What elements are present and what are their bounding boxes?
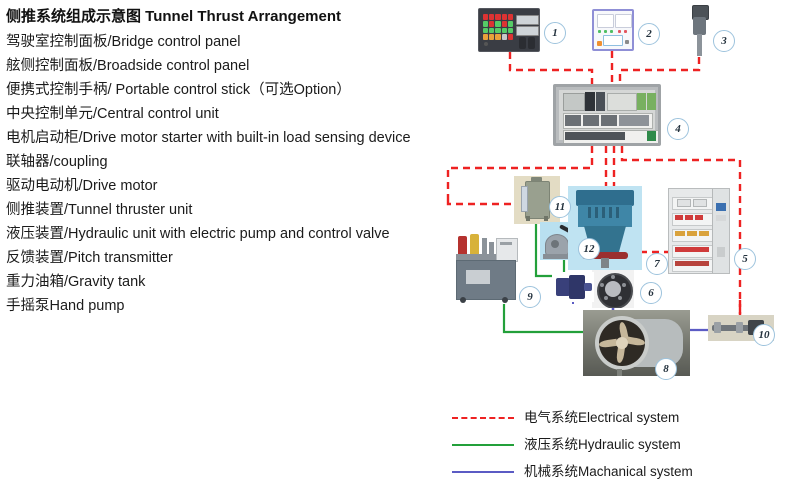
portable-control-stick [688, 5, 712, 57]
legend-row-hydraulic: 液压系统Hydraulic system [452, 431, 788, 458]
callout-11: 11 [549, 196, 571, 218]
legend-label-hydraulic: 液压系统Hydraulic system [524, 437, 681, 453]
display-window-top [516, 15, 539, 25]
breaker-2 [685, 215, 693, 220]
bridge-control-panel [478, 8, 540, 52]
caster-left [460, 297, 466, 303]
central-control-unit [553, 84, 661, 146]
motor-fin-1 [588, 207, 591, 218]
callout-9: 9 [519, 286, 541, 308]
green-module-2 [647, 93, 656, 110]
list-item: 驾驶室控制面板/Bridge control panel [6, 30, 456, 54]
list-item: 反馈装置/Pitch transmitter [6, 246, 456, 270]
rod-clamp-right [736, 322, 743, 333]
fuse-1 [675, 231, 685, 236]
motor-fin-4 [609, 207, 612, 218]
terminal-row [675, 261, 709, 266]
list-item: 联轴器/coupling [6, 150, 456, 174]
coupling-bolt-4 [604, 296, 608, 300]
contactor-row [675, 247, 709, 252]
nameplate [466, 270, 490, 284]
list-item: 中央控制单元/Central control unit [6, 102, 456, 126]
shaft-gear-unit [552, 272, 594, 302]
stick-stem [697, 34, 702, 56]
legend-swatch-electrical [452, 417, 514, 419]
cabinet-door [712, 189, 729, 273]
callout-5: 5 [734, 248, 756, 270]
meter-2 [693, 199, 707, 207]
panel-button [625, 40, 629, 44]
alarm-led [597, 41, 602, 46]
legend-swatch-mechanical [452, 471, 514, 473]
motor-fin-2 [595, 207, 598, 218]
coupling-bolt-5 [600, 283, 604, 287]
lever-knob-left [519, 37, 526, 49]
plc-module-b [585, 92, 595, 111]
rod-clamp-left [714, 322, 721, 333]
drive-motor [568, 186, 642, 270]
callout-4: 4 [667, 118, 689, 140]
motor-fin-3 [602, 207, 605, 218]
callout-8: 8 [655, 358, 677, 380]
list-item: 电机启动柜/Drive motor starter with built-in … [6, 126, 456, 150]
panel-readout [603, 35, 623, 46]
motor-terminal-box [576, 190, 634, 206]
breaker-1 [675, 215, 683, 220]
legend-label-mechanical: 机械系统Machanical system [524, 464, 693, 480]
status-led-3 [610, 30, 613, 33]
coupling-bolt-2 [622, 283, 626, 287]
system-diagram: 1 2 3 [440, 0, 788, 400]
lever-knob-right [528, 37, 535, 49]
indicator-lamp [484, 42, 488, 46]
list-item: 便携式控制手柄/ Portable control stick（可选Option… [6, 78, 456, 102]
cabinet-interior [559, 90, 655, 140]
plc-module-a [563, 93, 585, 111]
page-title: 侧推系统组成示意图 Tunnel Thrust Arrangement [6, 6, 456, 27]
status-led-4 [618, 30, 621, 33]
list-item: 舷侧控制面板/Broadside control panel [6, 54, 456, 78]
relay-2 [583, 115, 599, 126]
motor-frame [578, 205, 632, 227]
green-module-1 [637, 93, 646, 110]
button-grid [483, 14, 513, 40]
fuse-2 [687, 231, 697, 236]
relay-3 [601, 115, 617, 126]
gear-shaft [584, 283, 592, 291]
system-legend: 电气系统Electrical system 液压系统Hydraulic syst… [452, 404, 788, 485]
callout-10: 10 [753, 324, 775, 346]
callout-7: 7 [646, 253, 668, 275]
door-switch-2 [716, 215, 726, 221]
list-item: 手摇泵Hand pump [6, 294, 456, 318]
panel-window-right [615, 14, 632, 28]
tank-foot-left [526, 216, 530, 221]
hydraulic-unit [450, 232, 530, 304]
pump-port [551, 240, 559, 248]
legend-label-electrical: 电气系统Electrical system [524, 410, 679, 426]
list-item: 液压装置/Hydraulic unit with electric pump a… [6, 222, 456, 246]
drive-motor-starter-cabinet [668, 188, 730, 274]
callout-12: 12 [578, 238, 600, 260]
plc-module-c [596, 92, 605, 111]
propeller-hub [616, 337, 628, 349]
callout-3: 3 [713, 30, 735, 52]
callout-6: 6 [640, 282, 662, 304]
relay-1 [565, 115, 581, 126]
meter-1 [677, 199, 691, 207]
status-led-2 [604, 30, 607, 33]
component-list: 侧推系统组成示意图 Tunnel Thrust Arrangement 驾驶室控… [6, 6, 456, 318]
breaker-3 [695, 215, 703, 220]
broadside-control-panel [592, 9, 634, 51]
relay-4 [619, 115, 649, 126]
motor-shaft [601, 258, 609, 268]
terminal-block-top [607, 93, 637, 111]
status-led-1 [598, 30, 601, 33]
green-terminal [647, 131, 656, 141]
coupling-hub [605, 281, 621, 297]
level-gauge [521, 186, 528, 212]
legend-row-mechanical: 机械系统Machanical system [452, 458, 788, 485]
coupling [592, 270, 634, 308]
door-handle [717, 247, 725, 257]
list-item: 侧推装置/Tunnel thruster unit [6, 198, 456, 222]
thruster-foot-left [617, 369, 622, 376]
stick-body [693, 17, 706, 35]
terminal-strip [565, 132, 625, 140]
panel-window-left [597, 14, 614, 28]
coupling-bolt-1 [611, 275, 615, 279]
list-item: 重力油箱/Gravity tank [6, 270, 456, 294]
fuse-3 [699, 231, 709, 236]
list-item: 驱动电动机/Drive motor [6, 174, 456, 198]
control-box-label [500, 242, 512, 245]
callout-2: 2 [638, 23, 660, 45]
legend-row-electrical: 电气系统Electrical system [452, 404, 788, 431]
motor-fin-5 [616, 207, 619, 218]
tank-foot-right [544, 216, 548, 221]
coupling-bolt-3 [618, 296, 622, 300]
caster-right [502, 297, 508, 303]
door-switch-1 [716, 203, 726, 211]
callout-1: 1 [544, 22, 566, 44]
tank-body [525, 181, 550, 219]
display-window-bottom [516, 26, 539, 36]
gear-body-left [556, 278, 570, 296]
legend-swatch-hydraulic [452, 444, 514, 446]
status-led-5 [624, 30, 627, 33]
gear-body-right [569, 275, 585, 299]
